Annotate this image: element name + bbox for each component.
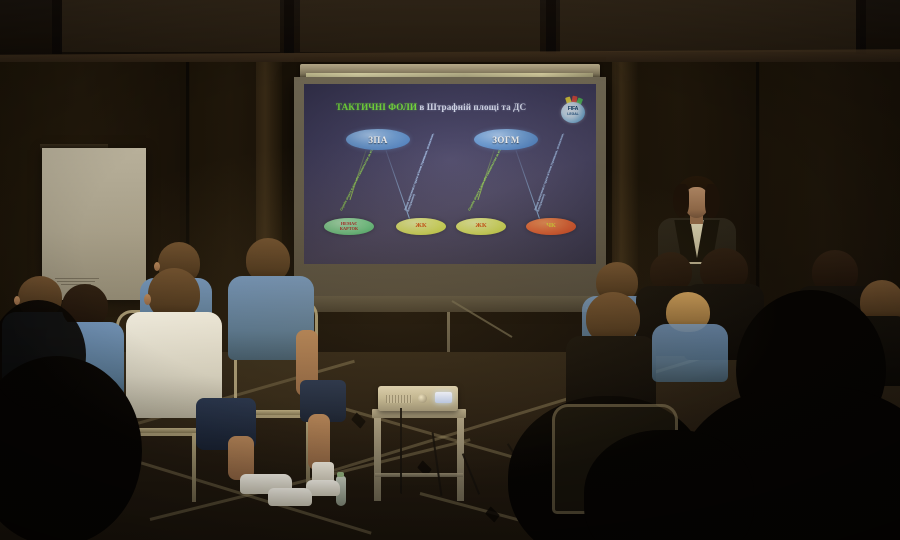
badge-line2: LEGAL <box>560 112 586 116</box>
screen-bottom-bar: screen <box>294 296 606 312</box>
presenter-hair-left <box>673 184 689 217</box>
slide-title: ТАКТИЧНІ ФОЛИ в Штрафній площі та ДС <box>304 102 558 112</box>
node-zpa-label: ЗПА <box>368 135 387 145</box>
node-zogm-label: ЗОГМ <box>492 135 519 145</box>
projector-lens <box>435 392 452 403</box>
projector <box>378 386 458 411</box>
node-yellow-card-2: ЖК <box>456 218 506 235</box>
node-no-card-line2: КАРТОК <box>340 227 358 231</box>
slide-title-green: ТАКТИЧНІ ФОЛИ <box>336 102 417 112</box>
foreground-silhouette-center-2 <box>584 430 754 540</box>
node-zpa: ЗПА <box>346 129 410 150</box>
node-no-card: НЕМАЄ КАРТОК <box>324 218 374 235</box>
projector-vent <box>386 395 412 403</box>
node-yellow-card-1: ЖК <box>396 218 446 235</box>
projector-table <box>372 409 466 501</box>
node-yellow-card-2-label: ЖК <box>475 223 486 230</box>
slide-title-white: в Штрафній площі та ДС <box>417 102 526 112</box>
node-red-card: ЧК <box>526 218 576 235</box>
fifa-badge-icon: FIFA LEGAL <box>560 96 586 123</box>
node-red-card-label: ЧК <box>546 223 556 230</box>
water-bottle-cap <box>337 472 344 477</box>
conference-room-photo: screen ТАКТИЧНІ ФОЛИ в Штрафній площі та… <box>0 0 900 540</box>
power-cable-1 <box>400 408 402 494</box>
node-zogm: ЗОГМ <box>474 129 538 150</box>
presenter-hair-right <box>705 184 720 218</box>
node-yellow-card-1-label: ЖК <box>415 223 426 230</box>
branch-label-zpa-right: Немає можливості грати м'ячем (тримання,… <box>404 131 439 212</box>
slide-content: ТАКТИЧНІ ФОЛИ в Штрафній площі та ДС FIF… <box>304 84 596 264</box>
projector-knob <box>418 394 427 403</box>
branch-label-zogm-right: Немає можливості грати м'ячем (тримання,… <box>534 131 569 212</box>
